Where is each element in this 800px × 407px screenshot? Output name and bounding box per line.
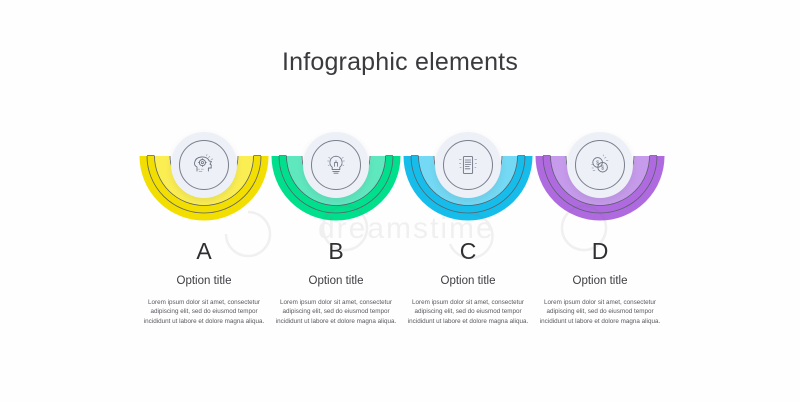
step-card-b[interactable]: B Option title Lorem ipsum dolor sit ame… [272,126,400,366]
step-title-a: Option title [140,275,268,287]
infographic-canvas: Infographic elements [0,0,800,402]
step-letter-b: B [272,238,400,265]
step-title-b: Option title [272,275,400,287]
step-body-d: Lorem ipsum dolor sit amet, consectetur … [538,298,662,326]
step-letter-c: C [404,238,532,265]
step-body-c: Lorem ipsum dolor sit amet, consectetur … [406,298,530,326]
step-card-d[interactable]: $ $ D Option title [536,126,664,366]
icon-badge-a[interactable] [171,132,237,198]
step-letter-d: D [536,238,664,265]
step-letter-a: A [140,238,268,265]
page-title: Infographic elements [0,48,800,77]
step-body-a: Lorem ipsum dolor sit amet, consectetur … [142,298,266,326]
semicircle-graphic-a [140,126,268,230]
step-title-d: Option title [536,275,664,287]
svg-text:$: $ [601,165,604,171]
semicircle-graphic-d: $ $ [536,126,664,230]
document-report-icon [455,152,481,178]
step-title-c: Option title [404,275,532,287]
lightbulb-icon [323,152,349,178]
semicircle-graphic-c [404,126,532,230]
head-gear-icon [191,152,217,178]
step-card-c[interactable]: C Option title Lorem ipsum dolor sit ame… [404,126,532,366]
icon-badge-c[interactable] [435,132,501,198]
steps-row: A Option title Lorem ipsum dolor sit ame… [140,126,664,366]
icon-badge-b[interactable] [303,132,369,198]
step-body-b: Lorem ipsum dolor sit amet, consectetur … [274,298,398,326]
step-card-a[interactable]: A Option title Lorem ipsum dolor sit ame… [140,126,268,366]
icon-badge-d[interactable]: $ $ [567,132,633,198]
coins-dollar-icon: $ $ [587,152,613,178]
semicircle-graphic-b [272,126,400,230]
